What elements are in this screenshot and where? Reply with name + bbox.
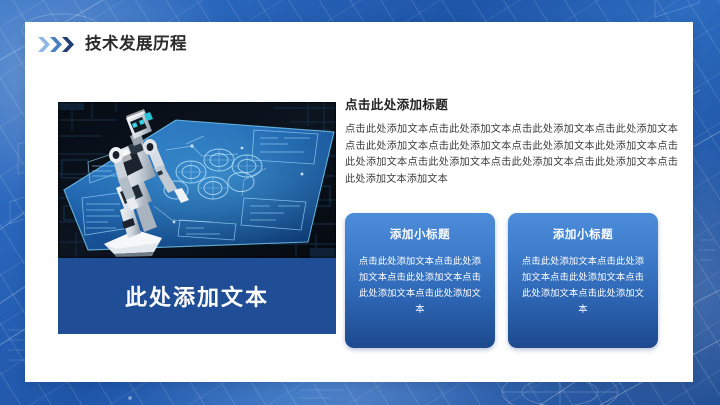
robot-scene-illustration xyxy=(58,102,336,258)
robot-holographic-image xyxy=(58,102,336,258)
card-title: 添加小标题 xyxy=(553,226,614,242)
card-body: 点击此处添加文本点击此处添加文本点击此处添加文本点击此处添加文本点击此处添加文本 xyxy=(519,254,647,318)
chevron-right-icon xyxy=(50,37,62,52)
slide-canvas: 技术发展历程 xyxy=(0,0,720,405)
slide-header: 技术发展历程 xyxy=(38,36,187,53)
card-title: 添加小标题 xyxy=(390,226,451,242)
chevron-right-icon xyxy=(38,37,50,52)
content-panel: 技术发展历程 xyxy=(25,22,693,382)
caption-text: 此处添加文本 xyxy=(125,280,269,312)
section-body: 点击此处添加文本点击此处添加文本点击此处添加文本点击此处添加文本点击此处添加文本… xyxy=(345,122,678,188)
text-column: 点击此处添加标题 点击此处添加文本点击此处添加文本点击此处添加文本点击此处添加文… xyxy=(345,98,678,188)
chevron-group-icon xyxy=(38,37,74,52)
chevron-right-icon xyxy=(62,37,74,52)
section-title: 点击此处添加标题 xyxy=(345,98,678,113)
caption-bar: 此处添加文本 xyxy=(58,258,336,334)
page-title: 技术发展历程 xyxy=(85,36,187,53)
card-row: 添加小标题 点击此处添加文本点击此处添加文本点击此处添加文本点击此处添加文本点击… xyxy=(345,213,678,348)
info-card-1[interactable]: 添加小标题 点击此处添加文本点击此处添加文本点击此处添加文本点击此处添加文本点击… xyxy=(345,213,495,348)
card-body: 点击此处添加文本点击此处添加文本点击此处添加文本点击此处添加文本点击此处添加文本 xyxy=(356,254,484,318)
info-card-2[interactable]: 添加小标题 点击此处添加文本点击此处添加文本点击此处添加文本点击此处添加文本点击… xyxy=(508,213,658,348)
media-block: 此处添加文本 xyxy=(58,102,336,278)
